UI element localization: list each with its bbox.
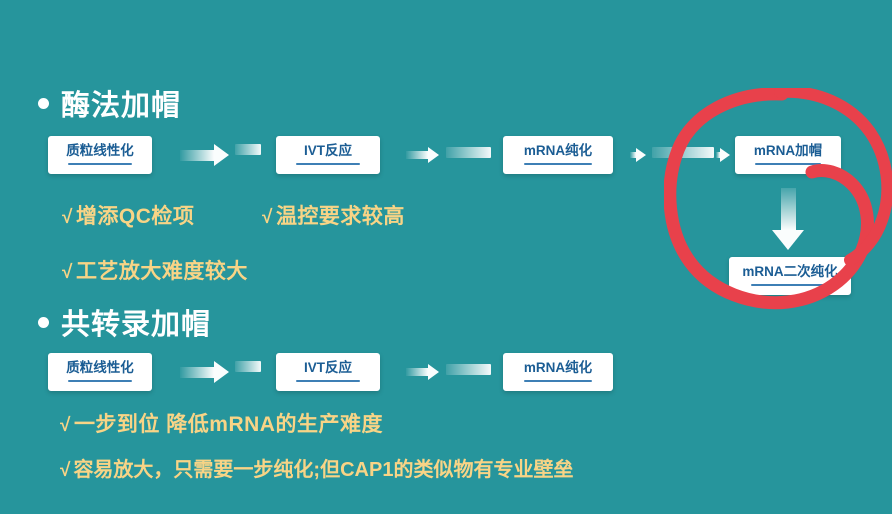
process-box-label: mRNA二次纯化	[742, 265, 837, 280]
arrow-shaft	[180, 367, 214, 378]
arrow-head	[428, 147, 439, 163]
check-icon: √	[262, 207, 273, 228]
flow-arrow-3	[630, 148, 646, 162]
flow-arrow-5	[180, 361, 229, 383]
flow-arrow-6	[406, 364, 439, 380]
check-icon: √	[60, 460, 70, 481]
process-box-label: IVT反应	[304, 361, 352, 376]
bullet-dot-icon	[38, 98, 49, 109]
process-box-label: 质粒线性化	[66, 361, 134, 376]
process-box-mrna-purification-1[interactable]: mRNA纯化	[503, 136, 613, 174]
arrow-head	[428, 364, 439, 380]
arrow-head	[720, 148, 730, 162]
flow-dash-3	[652, 147, 714, 158]
process-box-underline	[751, 284, 829, 286]
process-box-label: mRNA纯化	[524, 144, 592, 159]
arrow-shaft	[180, 150, 214, 161]
process-box-mrna-second-purification[interactable]: mRNA二次纯化	[729, 257, 851, 295]
bullet-dot-icon	[38, 317, 49, 328]
process-box-ivt-1[interactable]: IVT反应	[276, 136, 380, 174]
flow-dash-2	[446, 147, 491, 158]
process-box-label: IVT反应	[304, 144, 352, 159]
arrow-head	[214, 144, 229, 166]
arrow-shaft	[406, 151, 428, 159]
arrow-shaft	[406, 368, 428, 376]
process-box-linearization-1[interactable]: 质粒线性化	[48, 136, 152, 174]
check-icon: √	[62, 207, 73, 228]
section-heading-enzymatic-capping: 酶法加帽	[38, 82, 181, 124]
note-label: 工艺放大难度较大	[76, 260, 248, 283]
process-box-underline	[68, 163, 132, 165]
process-box-underline	[524, 163, 593, 165]
process-box-label: mRNA纯化	[524, 361, 592, 376]
flow-dash-5	[446, 364, 491, 375]
flow-arrow-down	[772, 188, 804, 250]
flow-dash-4	[235, 361, 261, 372]
process-box-ivt-2[interactable]: IVT反应	[276, 353, 380, 391]
note-label: 增添QC检项	[76, 205, 195, 228]
arrow-shaft	[781, 188, 796, 230]
note-label: 一步到位 降低mRNA的生产难度	[74, 413, 383, 436]
process-box-underline	[296, 380, 360, 382]
check-icon: √	[60, 415, 71, 436]
note-label: 容易放大，只需要一步纯化;但CAP1的类似物有专业壁垒	[73, 459, 573, 481]
arrow-head	[214, 361, 229, 383]
note-label: 温控要求较高	[276, 205, 405, 228]
note-scale-up-difficulty: √工艺放大难度较大	[62, 255, 248, 285]
note-one-step: √一步到位 降低mRNA的生产难度	[60, 408, 383, 438]
flow-arrow-1	[180, 144, 229, 166]
process-box-underline	[68, 380, 132, 382]
arrow-head	[636, 148, 646, 162]
process-box-underline	[296, 163, 360, 165]
process-box-underline	[755, 163, 821, 165]
process-box-label: mRNA加帽	[754, 144, 822, 159]
process-box-underline	[524, 380, 593, 382]
note-easy-scale-up: √容易放大，只需要一步纯化;但CAP1的类似物有专业壁垒	[60, 453, 573, 482]
section-heading-label: 共转录加帽	[61, 301, 211, 343]
note-qc-items: √增添QC检项	[62, 200, 194, 230]
flow-arrow-4	[716, 148, 730, 162]
slide-canvas: 酶法加帽 质粒线性化 IVT反应 mRNA纯化 mRNA加帽	[0, 0, 892, 514]
check-icon: √	[62, 262, 73, 283]
process-box-label: 质粒线性化	[66, 144, 134, 159]
note-temperature-control: √温控要求较高	[262, 200, 405, 230]
section-heading-label: 酶法加帽	[61, 82, 181, 124]
process-box-linearization-2[interactable]: 质粒线性化	[48, 353, 152, 391]
arrow-head	[772, 230, 804, 250]
flow-dash-1	[235, 144, 261, 155]
process-box-mrna-purification-2[interactable]: mRNA纯化	[503, 353, 613, 391]
process-box-mrna-capping[interactable]: mRNA加帽	[735, 136, 841, 174]
flow-arrow-2	[406, 147, 439, 163]
section-heading-cotranscriptional-capping: 共转录加帽	[38, 301, 211, 343]
